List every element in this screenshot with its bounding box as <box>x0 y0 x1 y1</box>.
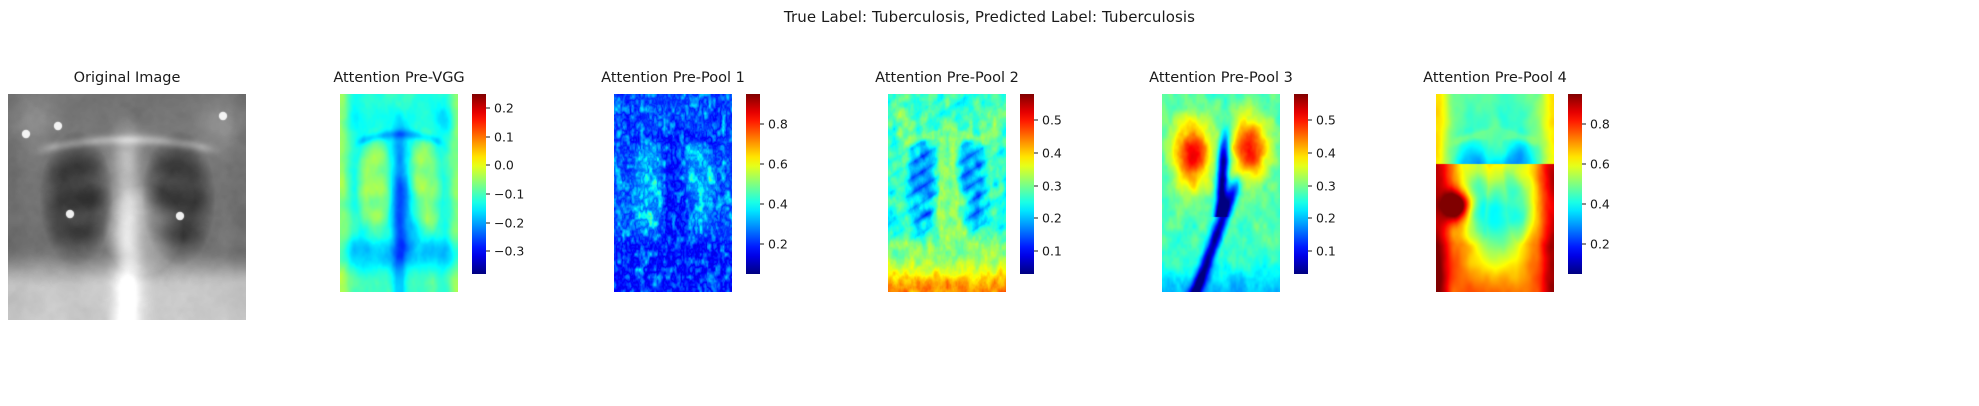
colorbar-tick-mark <box>1308 185 1312 186</box>
colorbar-tick-label: −0.2 <box>486 215 524 230</box>
colorbar-tick-label: 0.4 <box>760 197 788 212</box>
panel-title-attention-pre-vgg: Attention Pre-VGG <box>276 70 522 86</box>
panel-title-attention-pre-pool-2: Attention Pre-Pool 2 <box>824 70 1070 86</box>
colorbar-tick-text: 0.8 <box>768 117 788 132</box>
colorbar-tick-text: 0.4 <box>768 197 788 212</box>
colorbar-tick-text: 0.2 <box>1590 237 1610 252</box>
image-attention-pre-pool-2 <box>888 94 1006 292</box>
colorbar-tick-text: −0.1 <box>494 187 524 202</box>
colorbar-tick-mark <box>760 124 764 125</box>
colorbar-tick-label: −0.3 <box>486 244 524 259</box>
colorbar-tick-label: 0.2 <box>1034 211 1062 226</box>
colorbar-ticks-attention-pre-pool-4: 0.80.60.40.2 <box>1582 94 1642 274</box>
colorbar-tick-mark <box>486 108 490 109</box>
colorbar-tick-mark <box>1034 185 1038 186</box>
colorbar-tick-mark <box>1308 251 1312 252</box>
colorbar-attention-pre-pool-2: 0.50.40.30.20.1 <box>1020 94 1090 274</box>
panel-title-attention-pre-pool-1: Attention Pre-Pool 1 <box>550 70 796 86</box>
figure-suptitle: True Label: Tuberculosis, Predicted Labe… <box>0 8 1979 26</box>
colorbar-tick-label: 0.1 <box>486 129 514 144</box>
colorbar-tick-text: −0.2 <box>494 215 524 230</box>
colorbar-tick-label: 0.4 <box>1034 145 1062 160</box>
colorbar-tick-text: 0.0 <box>494 158 514 173</box>
colorbar-tick-mark <box>1034 251 1038 252</box>
colorbar-tick-text: 0.2 <box>494 101 514 116</box>
colorbar-tick-label: 0.8 <box>760 117 788 132</box>
panel-title-original-image: Original Image <box>8 70 246 86</box>
colorbar-tick-label: 0.1 <box>1308 244 1336 259</box>
colorbar-tick-label: 0.2 <box>1308 211 1336 226</box>
colorbar-gradient-attention-pre-pool-4 <box>1568 94 1582 274</box>
figure-canvas: True Label: Tuberculosis, Predicted Labe… <box>0 0 1979 406</box>
colorbar-tick-label: 0.0 <box>486 158 514 173</box>
colorbar-tick-label: 0.6 <box>1582 157 1610 172</box>
colorbar-tick-text: 0.2 <box>768 237 788 252</box>
colorbar-tick-mark <box>486 194 490 195</box>
colorbar-ticks-attention-pre-pool-1: 0.80.60.40.2 <box>760 94 820 274</box>
colorbar-tick-mark <box>760 164 764 165</box>
colorbar-tick-mark <box>1582 244 1586 245</box>
colorbar-tick-text: 0.5 <box>1316 113 1336 128</box>
colorbar-tick-mark <box>486 222 490 223</box>
colorbar-tick-mark <box>1308 218 1312 219</box>
colorbar-tick-text: 0.3 <box>1316 178 1336 193</box>
colorbar-attention-pre-vgg: 0.20.10.0−0.1−0.2−0.3 <box>472 94 542 274</box>
colorbar-tick-text: 0.4 <box>1590 197 1610 212</box>
colorbar-tick-mark <box>1582 204 1586 205</box>
colorbar-tick-label: 0.4 <box>1582 197 1610 212</box>
colorbar-tick-text: 0.2 <box>1316 211 1336 226</box>
colorbar-tick-label: 0.2 <box>486 101 514 116</box>
colorbar-tick-label: 0.3 <box>1034 178 1062 193</box>
colorbar-tick-label: 0.5 <box>1308 113 1336 128</box>
colorbar-tick-mark <box>1034 218 1038 219</box>
colorbar-tick-text: 0.4 <box>1316 145 1336 160</box>
colorbar-tick-text: 0.8 <box>1590 117 1610 132</box>
colorbar-tick-mark <box>1034 152 1038 153</box>
colorbar-tick-text: 0.2 <box>1042 211 1062 226</box>
colorbar-gradient-attention-pre-pool-3 <box>1294 94 1308 274</box>
colorbar-tick-label: 0.6 <box>760 157 788 172</box>
colorbar-ticks-attention-pre-pool-3: 0.50.40.30.20.1 <box>1308 94 1368 274</box>
colorbar-tick-label: 0.2 <box>760 237 788 252</box>
colorbar-gradient-attention-pre-pool-1 <box>746 94 760 274</box>
colorbar-tick-label: 0.2 <box>1582 237 1610 252</box>
image-attention-pre-pool-1 <box>614 94 732 292</box>
colorbar-tick-text: 0.4 <box>1042 145 1062 160</box>
colorbar-gradient-attention-pre-vgg <box>472 94 486 274</box>
colorbar-tick-mark <box>1582 124 1586 125</box>
colorbar-tick-mark <box>1308 152 1312 153</box>
colorbar-tick-label: −0.1 <box>486 187 524 202</box>
panel-title-attention-pre-pool-4: Attention Pre-Pool 4 <box>1372 70 1618 86</box>
colorbar-tick-label: 0.3 <box>1308 178 1336 193</box>
colorbar-tick-mark <box>486 165 490 166</box>
colorbar-tick-text: 0.1 <box>494 129 514 144</box>
colorbar-tick-mark <box>760 244 764 245</box>
colorbar-tick-text: 0.6 <box>1590 157 1610 172</box>
colorbar-tick-label: 0.8 <box>1582 117 1610 132</box>
panel-title-attention-pre-pool-3: Attention Pre-Pool 3 <box>1098 70 1344 86</box>
colorbar-tick-text: 0.3 <box>1042 178 1062 193</box>
colorbar-tick-mark <box>486 136 490 137</box>
colorbar-tick-label: 0.5 <box>1034 113 1062 128</box>
colorbar-tick-label: 0.4 <box>1308 145 1336 160</box>
colorbar-attention-pre-pool-1: 0.80.60.40.2 <box>746 94 816 274</box>
image-attention-pre-pool-3 <box>1162 94 1280 292</box>
colorbar-tick-text: −0.3 <box>494 244 524 259</box>
colorbar-tick-text: 0.1 <box>1042 244 1062 259</box>
image-original-image <box>8 94 246 320</box>
image-attention-pre-pool-4 <box>1436 94 1554 292</box>
colorbar-tick-mark <box>760 204 764 205</box>
colorbar-ticks-attention-pre-vgg: 0.20.10.0−0.1−0.2−0.3 <box>486 94 546 274</box>
colorbar-tick-mark <box>1034 120 1038 121</box>
colorbar-attention-pre-pool-3: 0.50.40.30.20.1 <box>1294 94 1364 274</box>
colorbar-attention-pre-pool-4: 0.80.60.40.2 <box>1568 94 1638 274</box>
colorbar-tick-text: 0.1 <box>1316 244 1336 259</box>
colorbar-tick-mark <box>1582 164 1586 165</box>
colorbar-tick-text: 0.6 <box>768 157 788 172</box>
colorbar-tick-mark <box>1308 120 1312 121</box>
colorbar-tick-mark <box>486 251 490 252</box>
colorbar-tick-label: 0.1 <box>1034 244 1062 259</box>
colorbar-gradient-attention-pre-pool-2 <box>1020 94 1034 274</box>
colorbar-ticks-attention-pre-pool-2: 0.50.40.30.20.1 <box>1034 94 1094 274</box>
image-attention-pre-vgg <box>340 94 458 292</box>
colorbar-tick-text: 0.5 <box>1042 113 1062 128</box>
